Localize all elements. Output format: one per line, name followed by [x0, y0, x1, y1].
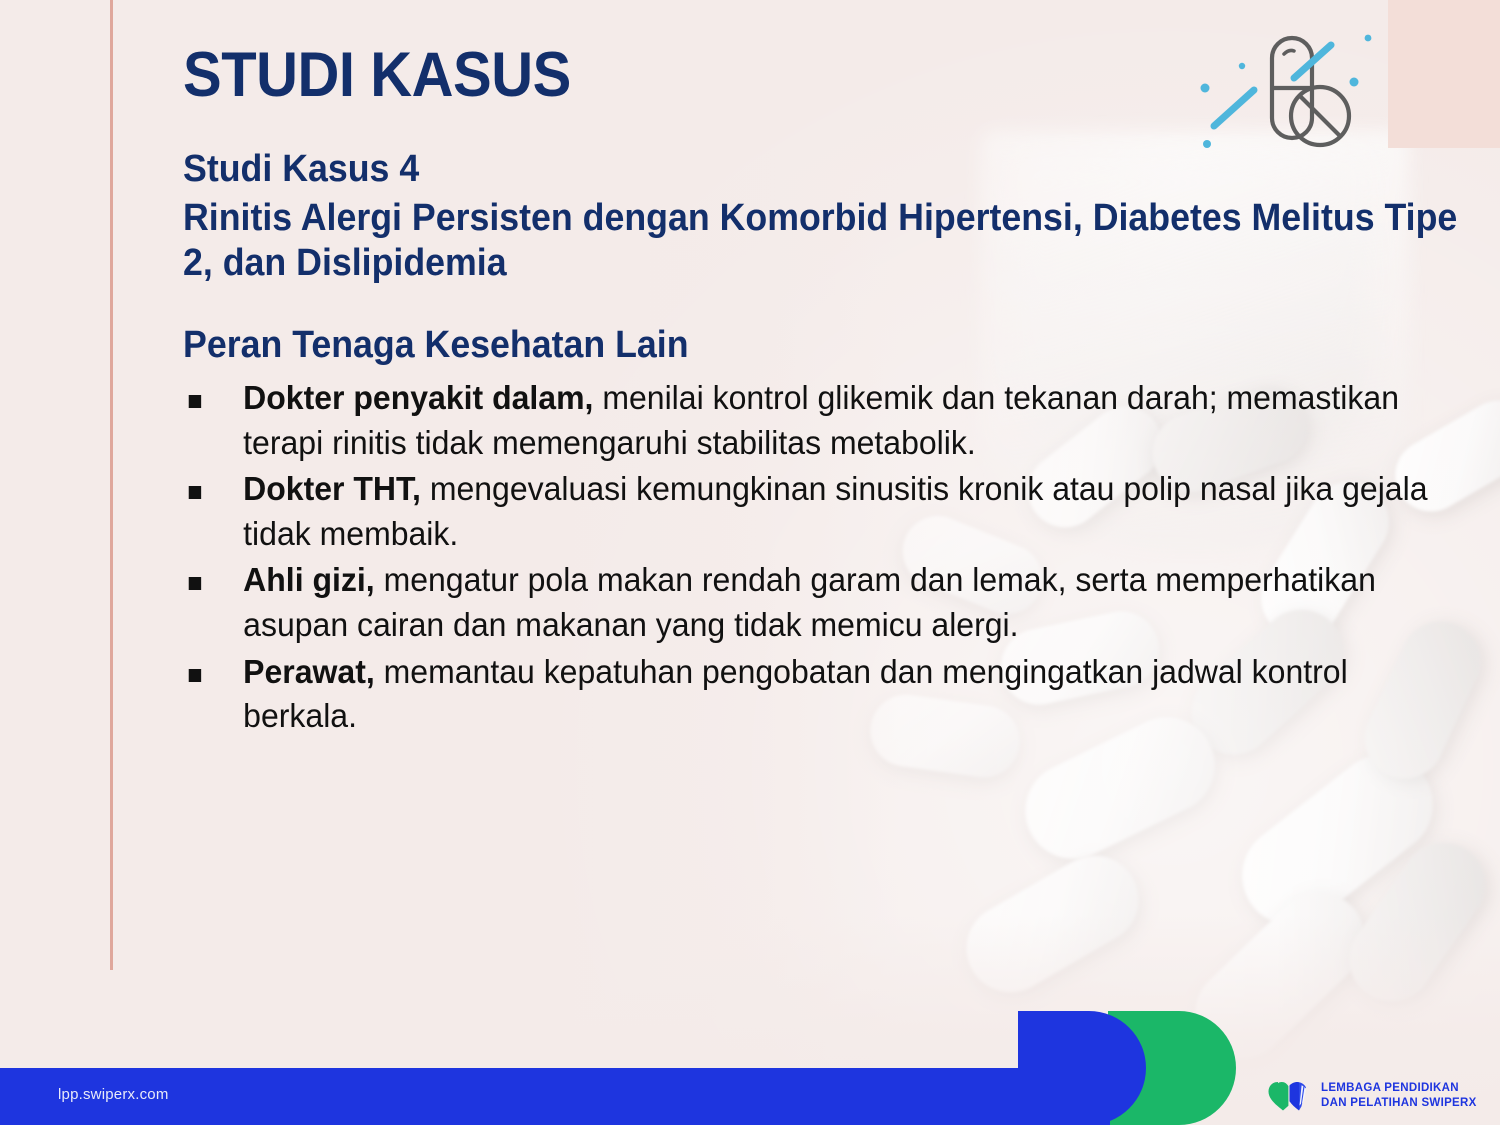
slide-content: STUDI KASUS Studi Kasus 4 Rinitis Alergi…	[183, 0, 1473, 742]
bullet-text: mengevaluasi kemungkinan sinusitis kroni…	[243, 471, 1427, 553]
bullet-lead: Dokter penyakit dalam,	[243, 380, 593, 417]
section-heading: Peran Tenaga Kesehatan Lain	[183, 325, 1396, 367]
bullet-lead: Ahli gizi,	[243, 562, 375, 599]
footer-url[interactable]: lpp.swiperx.com	[58, 1086, 169, 1103]
pill-shape	[1333, 826, 1500, 1018]
bullet-lead: Perawat,	[243, 654, 375, 691]
logo-line-1: LEMBAGA PENDIDIKAN	[1321, 1081, 1477, 1096]
list-item: Dokter penyakit dalam, menilai kontrol g…	[183, 377, 1453, 466]
case-block: Studi Kasus 4 Rinitis Alergi Persisten d…	[183, 147, 1490, 285]
footer: lpp.swiperx.com LEMBAGA PENDIDIKAN DAN P…	[0, 1068, 1500, 1125]
case-title: Rinitis Alergi Persisten dengan Komorbid…	[183, 196, 1490, 286]
bullet-list: Dokter penyakit dalam, menilai kontrol g…	[183, 377, 1453, 739]
pill-shape	[1222, 734, 1453, 945]
list-item: Perawat, memantau kepatuhan pengobatan d…	[183, 651, 1453, 740]
logo-text: LEMBAGA PENDIDIKAN DAN PELATIHAN SWIPERX	[1321, 1081, 1477, 1110]
organization-logo: LEMBAGA PENDIDIKAN DAN PELATIHAN SWIPERX	[1268, 1079, 1477, 1113]
logo-line-2: DAN PELATIHAN SWIPERX	[1321, 1096, 1477, 1111]
list-item: Ahli gizi, mengatur pola makan rendah ga…	[183, 559, 1453, 648]
list-item: Dokter THT, mengevaluasi kemungkinan sin…	[183, 468, 1453, 557]
bullet-text: mengatur pola makan rendah garam dan lem…	[243, 562, 1376, 644]
bullet-lead: Dokter THT,	[243, 471, 421, 508]
case-number: Studi Kasus 4	[183, 147, 1490, 192]
heart-book-logo-icon	[1268, 1079, 1312, 1113]
slide: STUDI KASUS Studi Kasus 4 Rinitis Alergi…	[0, 0, 1500, 1125]
page-title: STUDI KASUS	[183, 0, 1370, 107]
pill-shape	[950, 840, 1154, 1009]
left-accent-rule	[110, 0, 113, 970]
bullet-text: memantau kepatuhan pengobatan dan mengin…	[243, 654, 1348, 736]
